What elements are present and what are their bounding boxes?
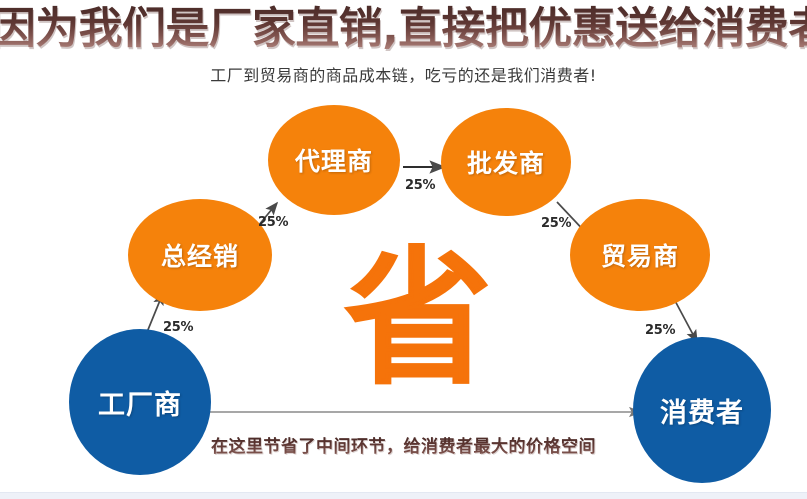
- footer-caption: 在这里节省了中间环节，给消费者最大的价格空间: [0, 432, 807, 457]
- node-factory-label: 工厂商: [98, 383, 182, 422]
- edge-trader-to-consumer: [673, 297, 697, 342]
- node-trader-label: 贸易商: [601, 237, 679, 273]
- edge-label-agent-wholesaler: 25%: [405, 178, 435, 193]
- node-trader[interactable]: 贸易商: [570, 199, 710, 311]
- node-distributor[interactable]: 总经销: [128, 199, 272, 311]
- node-wholesaler-label: 批发商: [467, 144, 545, 180]
- node-agent[interactable]: 代理商: [268, 105, 400, 215]
- node-wholesaler[interactable]: 批发商: [441, 108, 571, 216]
- edge-label-wholesaler-trader: 25%: [541, 216, 571, 231]
- page-bottom-strip: [0, 492, 807, 499]
- edge-label-trader-consumer: 25%: [645, 323, 675, 338]
- node-agent-label: 代理商: [295, 142, 373, 178]
- save-glyph: 省: [344, 245, 492, 393]
- page-subtitle: 工厂到贸易商的商品成本链，吃亏的还是我们消费者!: [0, 62, 807, 86]
- poster-canvas: 因为我们是厂家直销,直接把优惠送给消费者 工厂到贸易商的商品成本链，吃亏的还是我…: [0, 0, 807, 499]
- node-distributor-label: 总经销: [161, 237, 239, 273]
- edge-label-factory-distributor: 25%: [163, 320, 193, 335]
- page-title: 因为我们是厂家直销,直接把优惠送给消费者: [0, 4, 807, 54]
- node-consumer-label: 消费者: [660, 391, 744, 430]
- node-consumer[interactable]: 消费者: [633, 337, 771, 483]
- edge-label-distributor-agent: 25%: [258, 215, 288, 230]
